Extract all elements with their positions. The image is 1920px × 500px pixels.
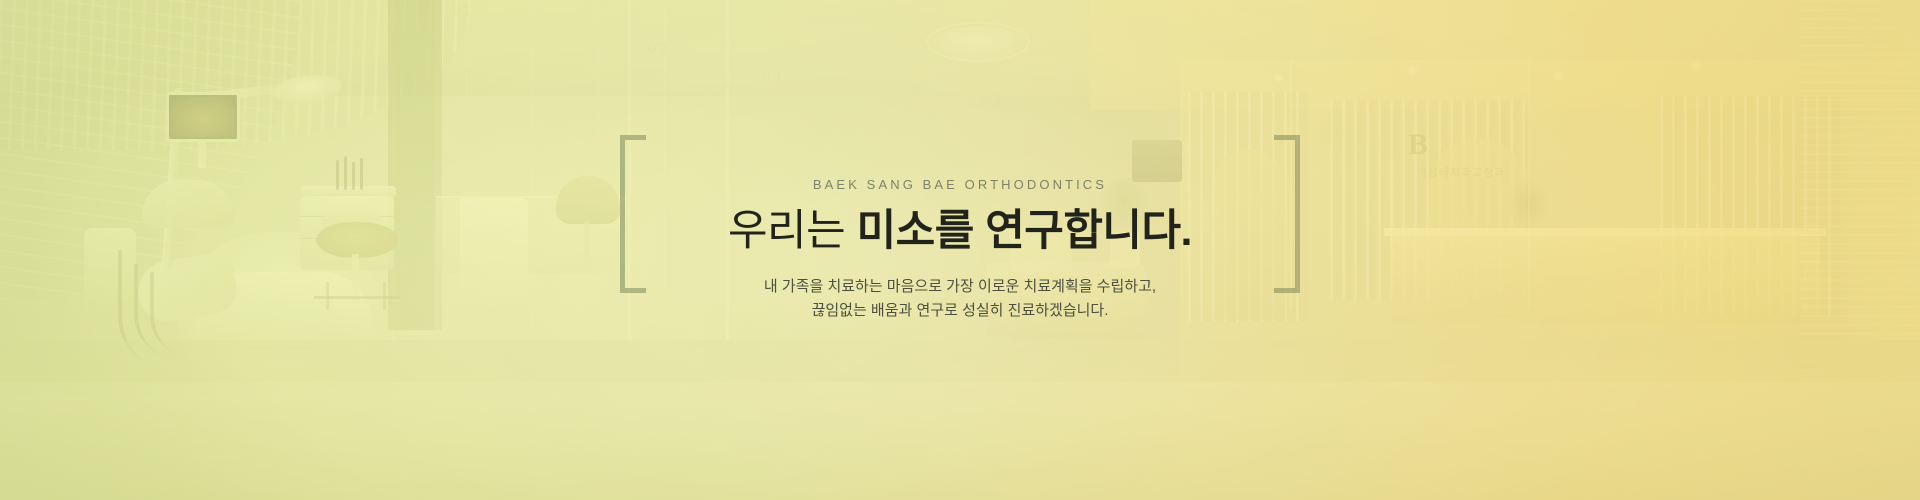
hero-text-block: BAEK SANG BAE ORTHODONTICS 우리는 미소를 연구합니다… [638,177,1282,323]
headline-bold-part: 미소를 연구합니다. [857,207,1192,255]
headline-light-part: 우리는 [728,207,857,255]
hero-content: BAEK SANG BAE ORTHODONTICS 우리는 미소를 연구합니다… [0,0,1920,500]
hero-description-line-2: 끊임없는 배움과 연구로 성실히 진료하겠습니다. [728,299,1192,323]
hero-headline: 우리는 미소를 연구합니다. [728,206,1192,257]
hero-eyebrow: BAEK SANG BAE ORTHODONTICS [728,177,1192,192]
hero-description-line-1: 내 가족을 치료하는 마음으로 가장 이로운 치료계획을 수립하고, [728,275,1192,299]
bracket-left-decoration [620,135,646,293]
hero-description: 내 가족을 치료하는 마음으로 가장 이로운 치료계획을 수립하고, 끊임없는 … [728,275,1192,324]
bracket-right-decoration [1274,135,1300,293]
hero-banner: B 백상배치과교정과 01 02 03 04 BAEK SANG BAE ORT… [0,0,1920,500]
